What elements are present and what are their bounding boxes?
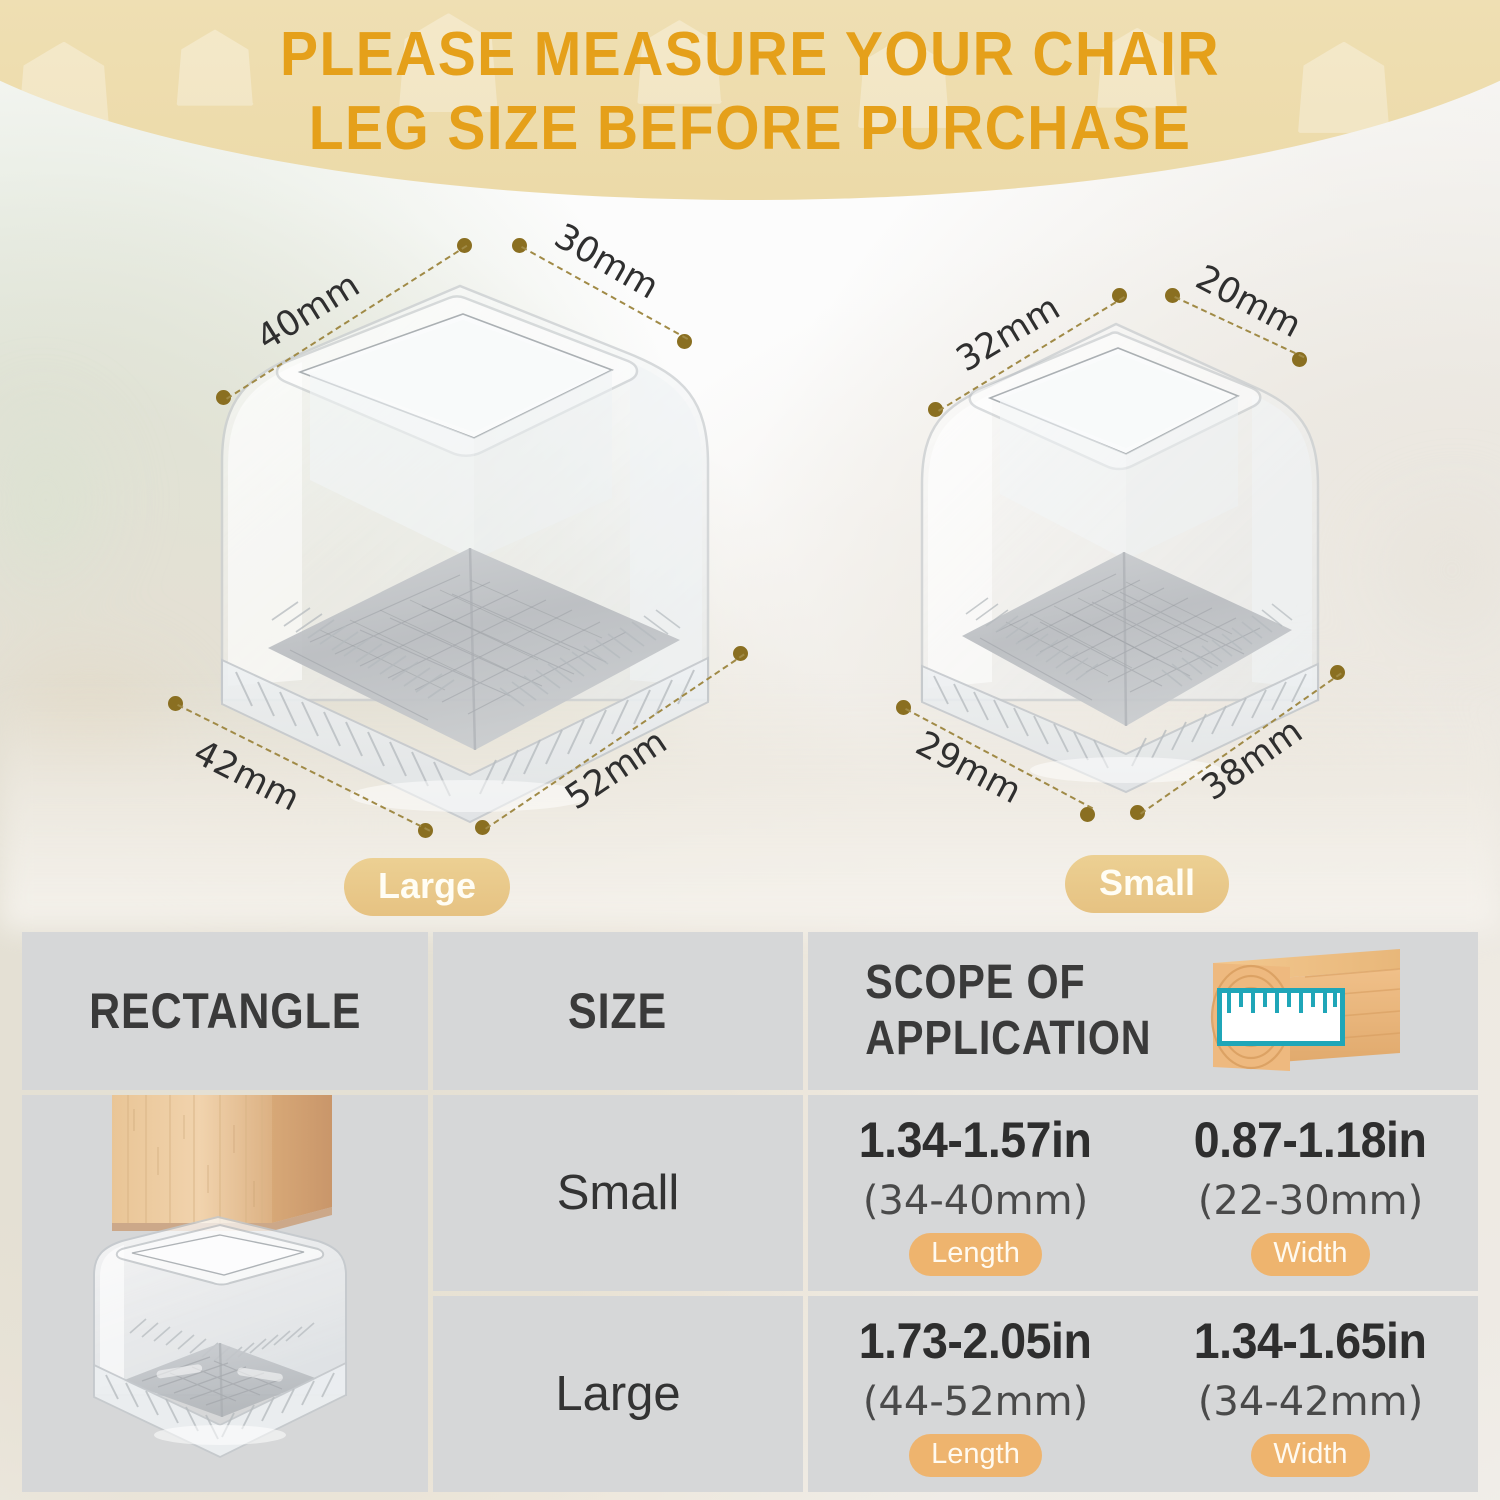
size-chart-table: RECTANGLE SIZE SCOPE OF APPLICATION — [22, 932, 1478, 1492]
measure-block-small-width: 0.87-1.18in (22-30mm) Width — [1185, 1111, 1435, 1276]
length-inches-small: 1.34-1.57in — [859, 1111, 1092, 1169]
header-label-size: SIZE — [568, 982, 667, 1040]
product-image-small: 32mm 20mm 29mm 38mm — [880, 270, 1350, 850]
size-badge-small: Small — [1065, 855, 1229, 913]
width-badge-large: Width — [1251, 1434, 1369, 1477]
table-header-rectangle: RECTANGLE — [22, 932, 428, 1090]
header-label-scope-line2: APPLICATION — [865, 1011, 1151, 1067]
header-label-scope-line1: SCOPE OF — [865, 955, 1151, 1011]
dim-dot — [168, 696, 183, 711]
measure-block-small-length: 1.34-1.57in (34-40mm) Length — [850, 1111, 1100, 1276]
width-mm-small: (22-30mm) — [1198, 1178, 1423, 1224]
dim-dot — [512, 238, 527, 253]
dim-dot — [896, 700, 911, 715]
table-cell-scope-small: 1.34-1.57in (34-40mm) Length 0.87-1.18in… — [808, 1095, 1478, 1291]
width-inches-small: 0.87-1.18in — [1194, 1111, 1427, 1169]
table-cell-size-large: Large — [433, 1296, 803, 1492]
chair-leg-with-cap-illustration — [22, 1095, 428, 1492]
banner-line-2: LEG SIZE BEFORE PURCHASE — [60, 92, 1440, 166]
length-badge-large: Length — [909, 1434, 1042, 1477]
length-mm-small: (34-40mm) — [863, 1178, 1088, 1224]
dim-dot — [1165, 288, 1180, 303]
table-header-scope: SCOPE OF APPLICATION — [808, 932, 1478, 1090]
banner-text-block: PLEASE MEASURE YOUR CHAIR LEG SIZE BEFOR… — [0, 0, 1500, 200]
measure-block-large-length: 1.73-2.05in (44-52mm) Length — [850, 1312, 1100, 1477]
size-value-small: Small — [557, 1165, 680, 1221]
table-cell-size-small: Small — [433, 1095, 803, 1291]
dim-dot — [1080, 807, 1095, 822]
product-image-large: 40mm 30mm 42mm 52mm — [160, 230, 760, 850]
header-label-scope-wrapper: SCOPE OF APPLICATION — [865, 955, 1151, 1067]
table-cell-product-photo — [22, 1095, 428, 1492]
width-inches-large: 1.34-1.65in — [1194, 1312, 1427, 1370]
table-header-size: SIZE — [433, 932, 803, 1090]
width-mm-large: (34-42mm) — [1198, 1379, 1423, 1425]
length-mm-large: (44-52mm) — [863, 1379, 1088, 1425]
size-badge-large: Large — [344, 858, 510, 916]
banner-line-1: PLEASE MEASURE YOUR CHAIR — [60, 18, 1440, 92]
width-badge-small: Width — [1251, 1233, 1369, 1276]
length-inches-large: 1.73-2.05in — [859, 1312, 1092, 1370]
header-label-rectangle: RECTANGLE — [89, 982, 361, 1040]
table-cell-scope-large: 1.73-2.05in (44-52mm) Length 1.34-1.65in… — [808, 1296, 1478, 1492]
length-badge-small: Length — [909, 1233, 1042, 1276]
size-value-large: Large — [555, 1366, 680, 1422]
wood-beam-ruler-icon — [1185, 941, 1400, 1081]
measure-block-large-width: 1.34-1.65in (34-42mm) Width — [1185, 1312, 1435, 1477]
